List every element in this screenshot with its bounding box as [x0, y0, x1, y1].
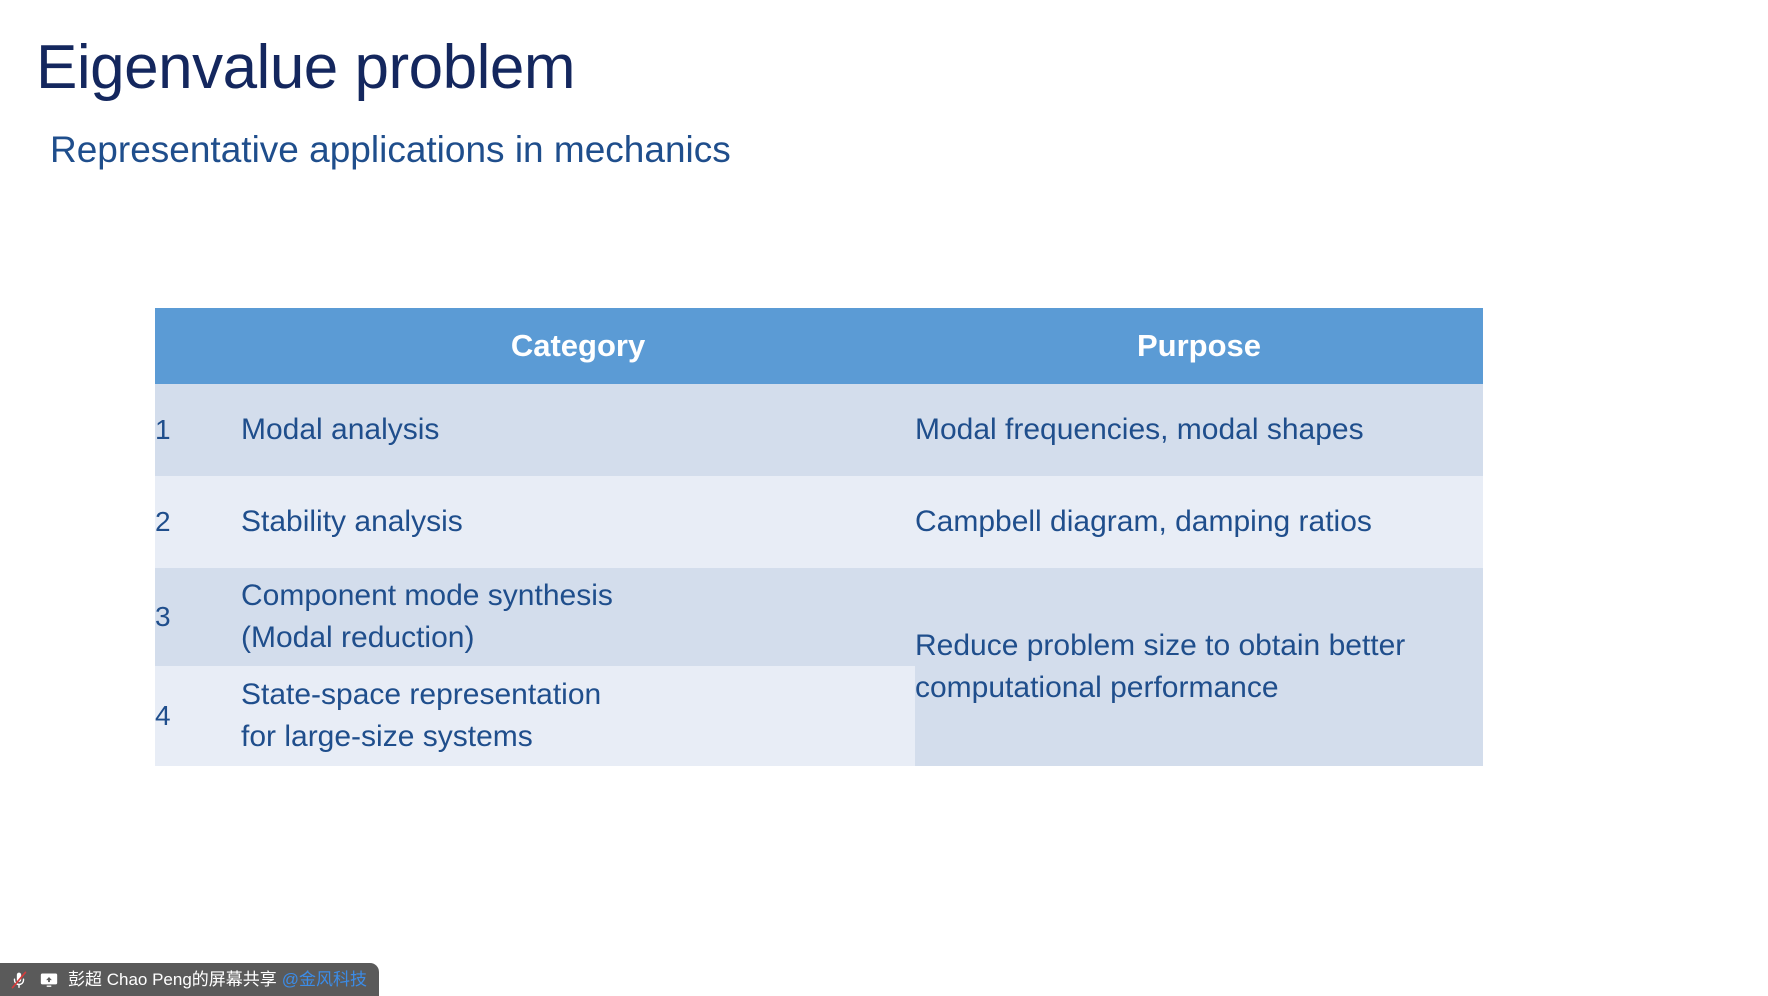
row-purpose-merged-line1: Reduce problem size to obtain better [915, 625, 1483, 667]
row-category-4-line2: for large-size systems [241, 716, 915, 758]
row-purpose-1: Modal frequencies, modal shapes [915, 384, 1483, 476]
zoom-screen-share-bar[interactable]: 彭超 Chao Peng的屏幕共享 @金风科技 [0, 963, 379, 996]
table-row: 1 Modal analysis Modal frequencies, moda… [155, 384, 1483, 476]
row-category-3: Component mode synthesis (Modal reductio… [241, 568, 915, 666]
row-category-2: Stability analysis [241, 476, 915, 568]
row-category-4-line1: State-space representation [241, 674, 915, 716]
row-purpose-2: Campbell diagram, damping ratios [915, 476, 1483, 568]
table-header-row: Category Purpose [155, 308, 1483, 384]
row-index-4: 4 [155, 666, 241, 766]
applications-table-wrapper: Category Purpose 1 Modal analysis Modal … [155, 308, 1483, 766]
page-title: Eigenvalue problem [36, 31, 575, 105]
screen-share-icon[interactable] [38, 969, 60, 991]
page-subtitle: Representative applications in mechanics [50, 127, 731, 173]
microphone-muted-icon[interactable] [8, 969, 30, 991]
row-category-1: Modal analysis [241, 384, 915, 476]
table-row: 2 Stability analysis Campbell diagram, d… [155, 476, 1483, 568]
row-purpose-merged-3-4: Reduce problem size to obtain better com… [915, 568, 1483, 766]
row-category-4: State-space representation for large-siz… [241, 666, 915, 766]
table-row: 3 Component mode synthesis (Modal reduct… [155, 568, 1483, 666]
row-index-3: 3 [155, 568, 241, 666]
column-header-index [155, 308, 241, 384]
column-header-category: Category [241, 308, 915, 384]
share-company-tag: @金风科技 [282, 970, 367, 990]
applications-table: Category Purpose 1 Modal analysis Modal … [155, 308, 1483, 766]
row-index-1: 1 [155, 384, 241, 476]
column-header-purpose: Purpose [915, 308, 1483, 384]
row-index-2: 2 [155, 476, 241, 568]
row-purpose-merged-line2: computational performance [915, 667, 1483, 709]
share-status-text: 彭超 Chao Peng的屏幕共享 [68, 970, 277, 990]
slide-canvas: Eigenvalue problem Representative applic… [0, 0, 1768, 996]
row-category-3-line1: Component mode synthesis [241, 575, 915, 617]
row-category-3-line2: (Modal reduction) [241, 617, 915, 659]
